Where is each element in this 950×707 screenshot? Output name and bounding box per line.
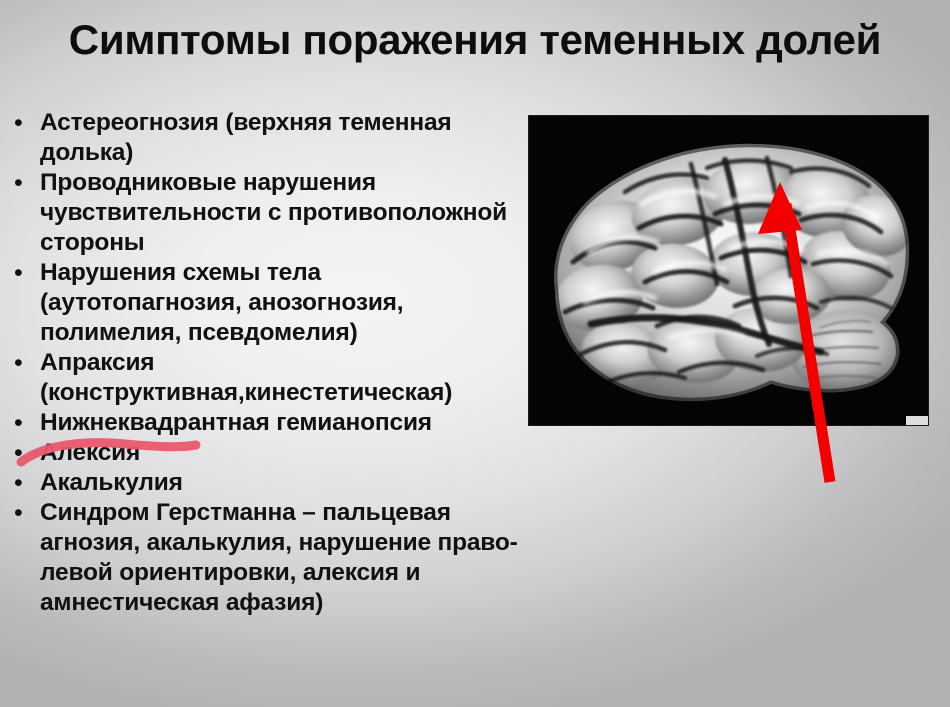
list-item-label: Нижнеквадрантная гемианопсия — [40, 408, 525, 438]
bullet-marker-icon: • — [10, 108, 40, 138]
bullet-marker-icon: • — [10, 498, 40, 528]
slide-title: Симптомы поражения теменных долей — [0, 16, 950, 64]
bullet-marker-icon: • — [10, 408, 40, 438]
list-item: • Акалькулия — [10, 468, 525, 498]
list-item-label: Астереогнозия (верхняя теменная долька) — [40, 108, 525, 168]
presentation-slide: Симптомы поражения теменных долей • Асте… — [0, 0, 950, 707]
list-item-label: Апраксия (конструктивная,кинестетическая… — [40, 348, 525, 408]
bullet-marker-icon: • — [10, 168, 40, 198]
list-item: • Проводниковые нарушения чувствительнос… — [10, 168, 525, 258]
list-item-label: Синдром Герстманна – пальцевая агнозия, … — [40, 498, 525, 618]
bullet-marker-icon: • — [10, 438, 40, 468]
list-item: • Нижнеквадрантная гемианопсия — [10, 408, 525, 438]
list-item: • Апраксия (конструктивная,кинестетическ… — [10, 348, 525, 408]
bullet-marker-icon: • — [10, 258, 40, 288]
bullet-marker-icon: • — [10, 468, 40, 498]
brain-lateral-view-image — [529, 116, 928, 425]
photo-corner-notch — [906, 416, 928, 425]
list-item-label: Акалькулия — [40, 468, 525, 498]
brain-photo-figure — [529, 116, 928, 425]
list-item-alexia: • Алексия — [10, 438, 525, 468]
list-item: • Нарушения схемы тела (аутотопагнозия, … — [10, 258, 525, 348]
list-item-label: Проводниковые нарушения чувствительности… — [40, 168, 525, 258]
bullet-marker-icon: • — [10, 348, 40, 378]
list-item: • Астереогнозия (верхняя теменная долька… — [10, 108, 525, 168]
list-item-label: Алексия — [40, 438, 525, 468]
symptom-bullet-list: • Астереогнозия (верхняя теменная долька… — [10, 108, 525, 618]
list-item: • Синдром Герстманна – пальцевая агнозия… — [10, 498, 525, 618]
list-item-label: Нарушения схемы тела (аутотопагнозия, ан… — [40, 258, 525, 348]
